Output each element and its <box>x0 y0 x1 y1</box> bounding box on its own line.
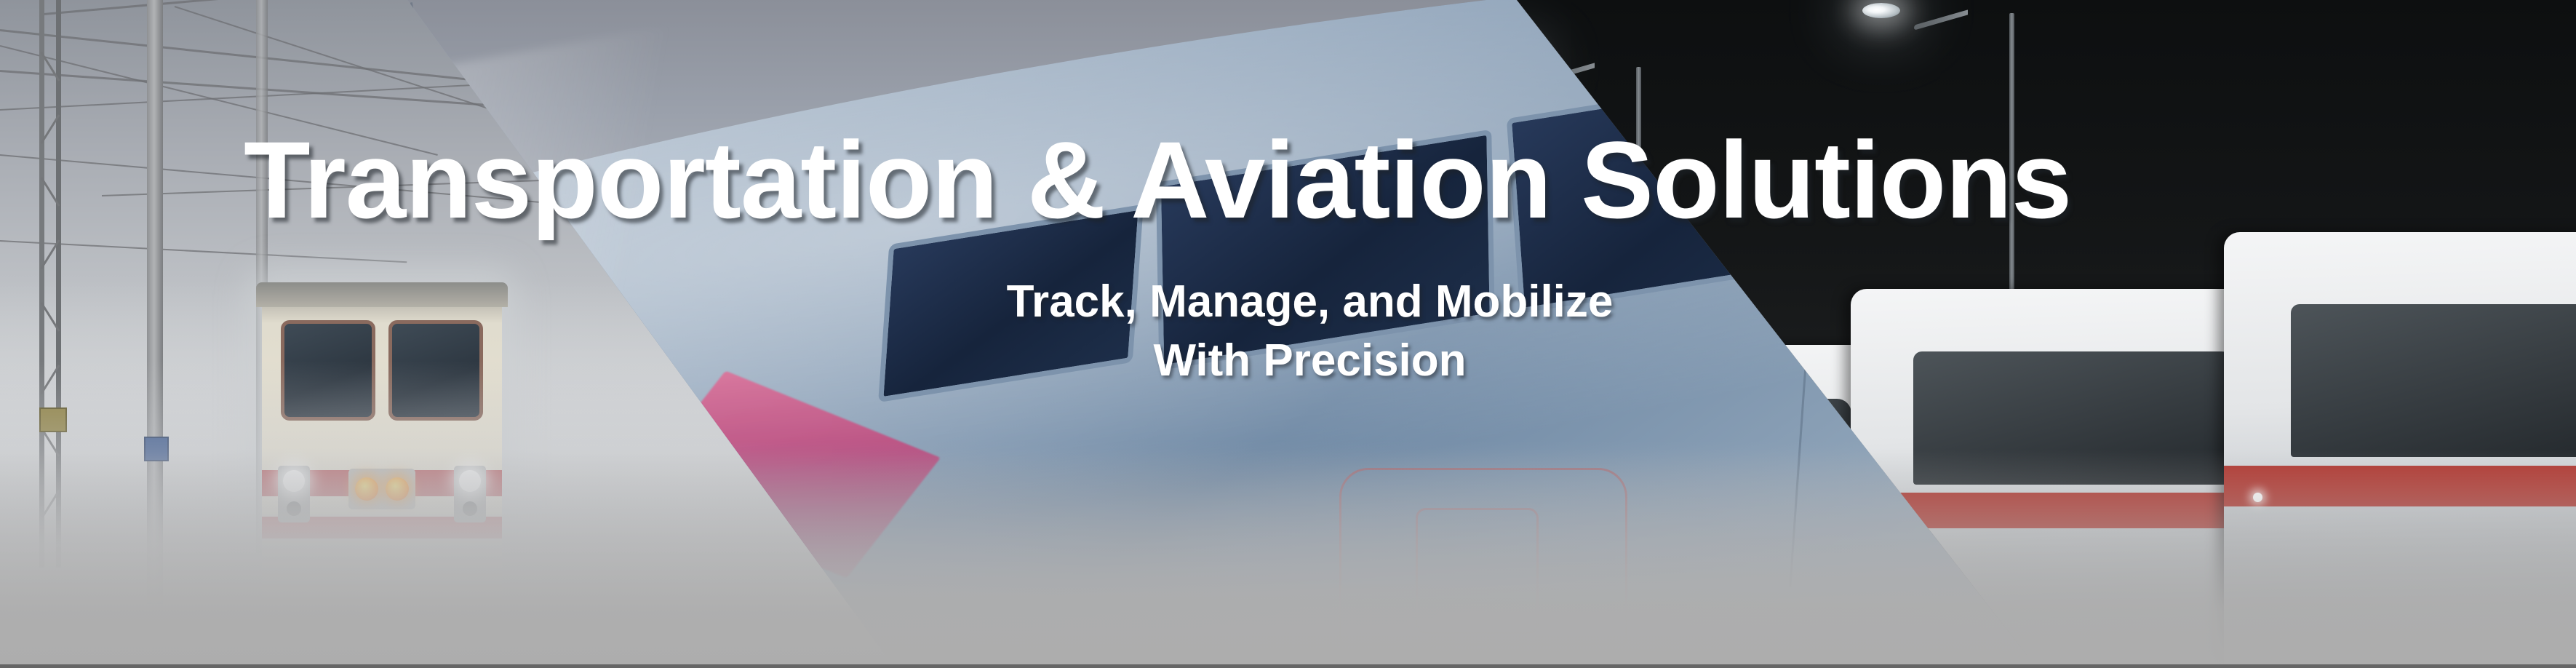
van-marker-light <box>2253 493 2262 502</box>
street-lamp-arm <box>1914 9 1968 30</box>
street-lamp-light <box>1862 3 1900 18</box>
van-accent-stripe <box>2224 466 2576 506</box>
van-windshield <box>2291 304 2576 457</box>
van-windshield <box>1913 351 2236 485</box>
hero-banner: Transportation & Aviation Solutions Trac… <box>0 0 2576 668</box>
bottom-divider <box>0 664 2576 668</box>
cockpit-pane-1 <box>878 204 1144 402</box>
locomotive-roof <box>256 282 508 307</box>
parked-van <box>2224 232 2576 668</box>
